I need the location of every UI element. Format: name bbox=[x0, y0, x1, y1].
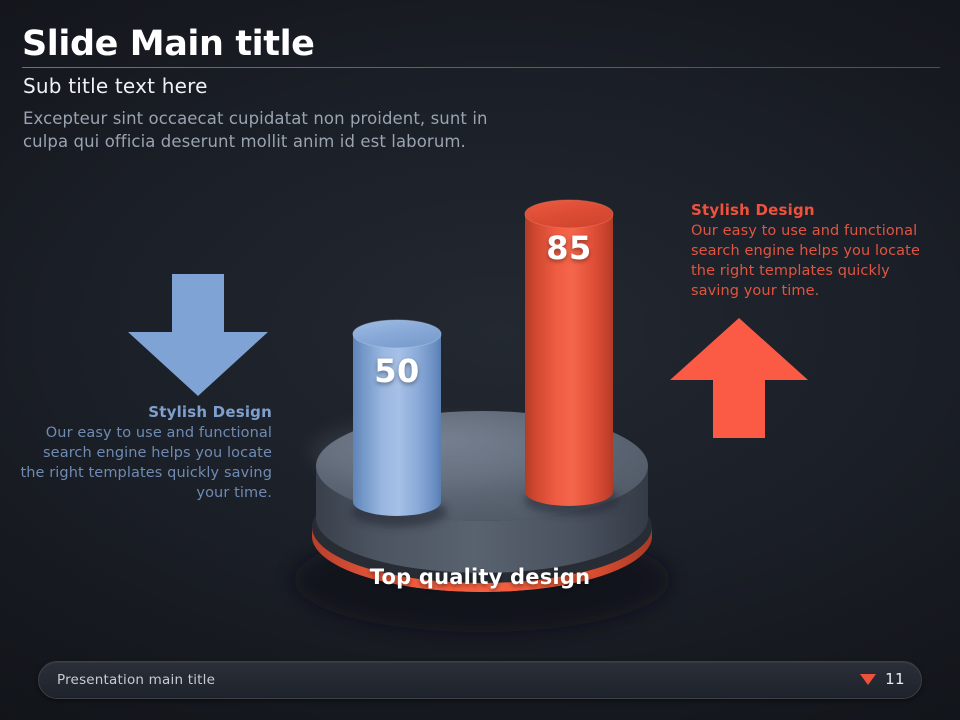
callout-left-heading: Stylish Design bbox=[20, 402, 272, 422]
bar-value-red: 85 bbox=[525, 229, 613, 267]
bar-value-blue: 50 bbox=[353, 352, 441, 390]
callout-right-heading: Stylish Design bbox=[691, 200, 936, 220]
footer-title: Presentation main title bbox=[57, 672, 215, 688]
callout-right: Stylish Design Our easy to use and funct… bbox=[691, 200, 936, 301]
bar-blue[interactable] bbox=[353, 320, 441, 516]
footer-page-number: 11 bbox=[885, 670, 905, 688]
callout-left: Stylish Design Our easy to use and funct… bbox=[20, 402, 272, 503]
callout-left-body: Our easy to use and functional search en… bbox=[20, 423, 272, 503]
platform-label: Top quality design bbox=[330, 565, 630, 589]
callout-right-body: Our easy to use and functional search en… bbox=[691, 221, 936, 301]
arrow-down-icon bbox=[128, 274, 268, 396]
slide-canvas: Slide Main title Sub title text here Exc… bbox=[0, 0, 960, 720]
footer-bar[interactable]: Presentation main title 11 bbox=[38, 661, 922, 699]
arrow-up-icon bbox=[670, 318, 808, 438]
footer-page-indicator: 11 bbox=[860, 670, 905, 688]
triangle-down-icon bbox=[860, 674, 876, 685]
